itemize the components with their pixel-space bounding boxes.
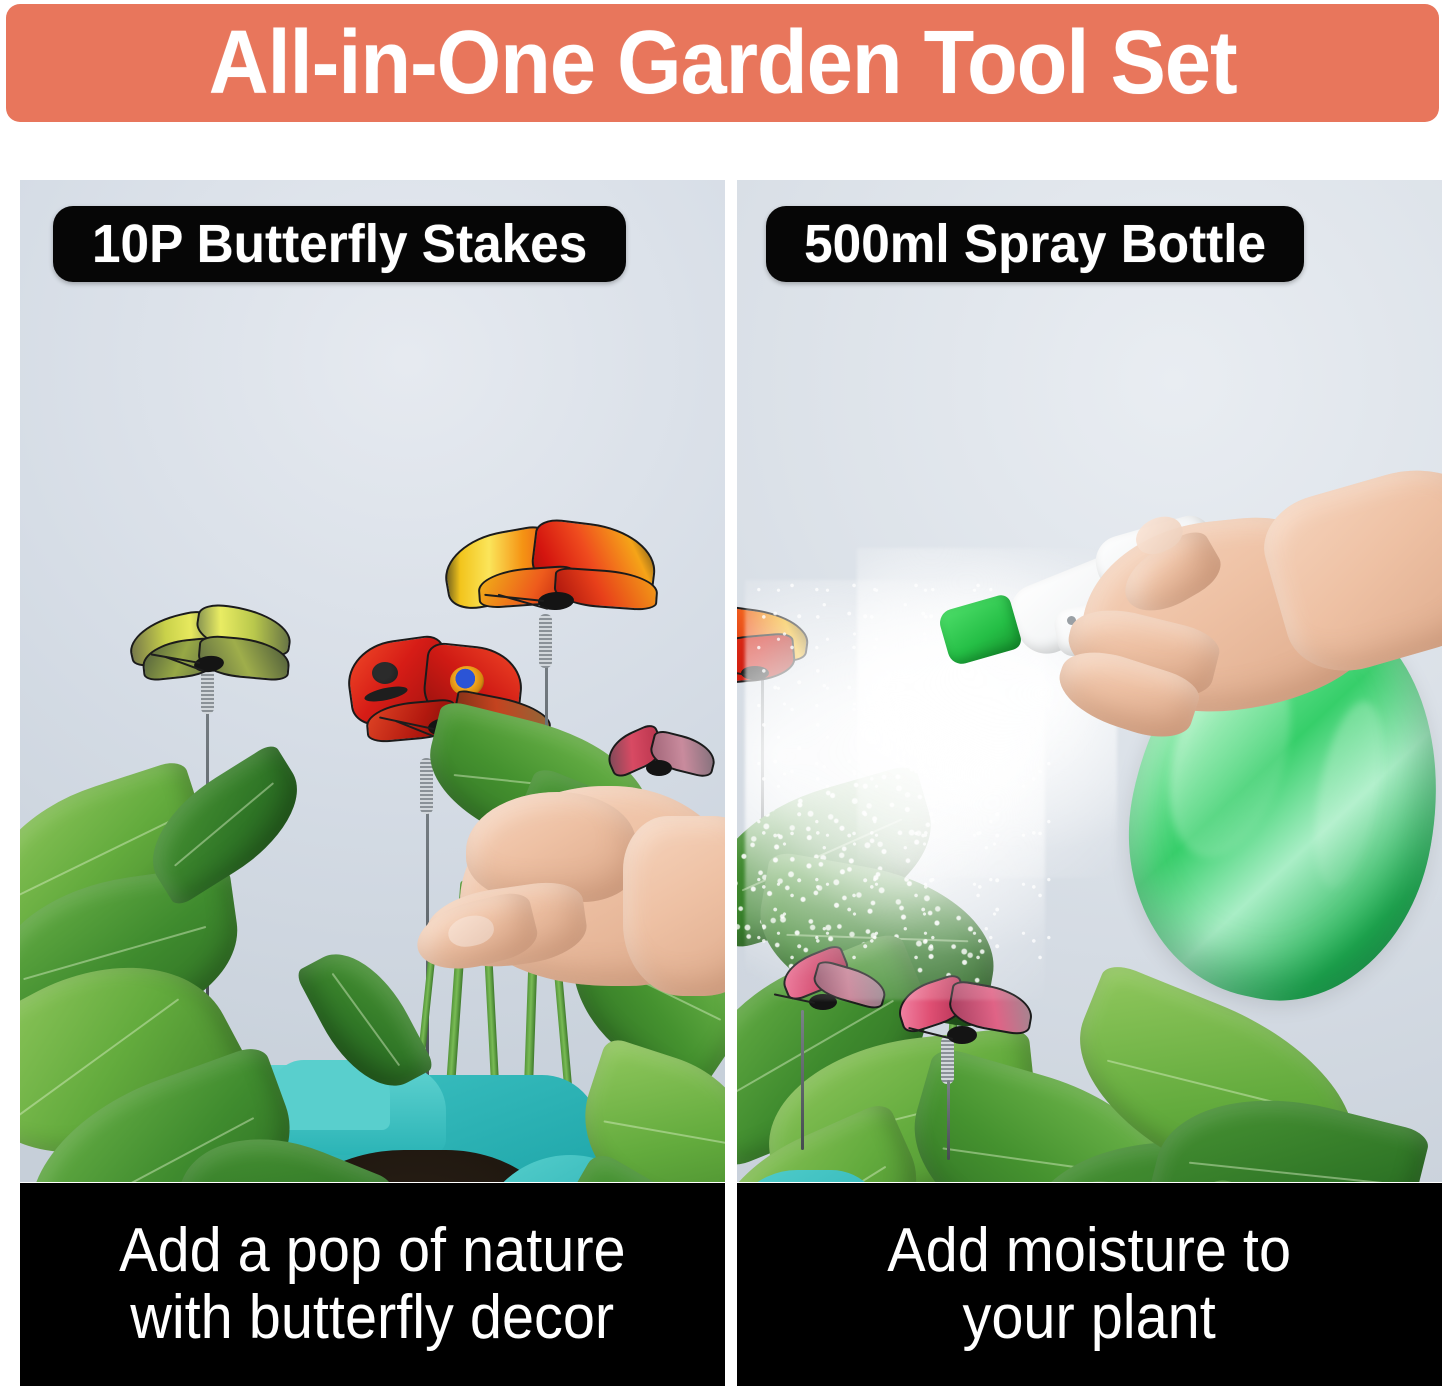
caption-line-1: Add moisture to [888, 1218, 1292, 1285]
product-panel-butterfly-stakes: 10P Butterfly Stakes [20, 180, 725, 1182]
badge-butterfly-stakes: 10P Butterfly Stakes [53, 206, 626, 282]
caption-butterfly-stakes: Add a pop of nature with butterfly decor [20, 1183, 725, 1386]
butterfly-eyespot-left [372, 662, 398, 684]
caption-line-2: with butterfly decor [131, 1285, 615, 1352]
hand-holding-spray-bottle [1023, 520, 1442, 860]
page-title: All-in-One Garden Tool Set [209, 18, 1237, 108]
badge-label: 500ml Spray Bottle [804, 217, 1266, 271]
caption-spray-bottle: Add moisture to your plant [737, 1183, 1442, 1386]
butterfly-stake-yellow [128, 600, 313, 695]
green-nozzle[interactable] [937, 593, 1024, 667]
caption-line-2: your plant [963, 1285, 1216, 1352]
stake-wire-pink [947, 1080, 950, 1160]
hand-holding-stake [408, 776, 725, 1076]
header-banner: All-in-One Garden Tool Set [6, 4, 1439, 122]
green-spray-bottle [937, 520, 1437, 1040]
butterfly-body [646, 760, 672, 776]
badge-label: 10P Butterfly Stakes [92, 217, 587, 271]
photo-butterfly-stakes [20, 180, 725, 1182]
badge-spray-bottle: 500ml Spray Bottle [766, 206, 1304, 282]
caption-line-1: Add a pop of nature [119, 1218, 626, 1285]
stake-wire-pink [801, 1010, 804, 1150]
photo-spray-bottle [737, 180, 1442, 1182]
product-panel-spray-bottle: 500ml Spray Bottle [737, 180, 1442, 1182]
hand-wrist [623, 816, 725, 996]
butterfly-stake-orange [444, 520, 664, 630]
